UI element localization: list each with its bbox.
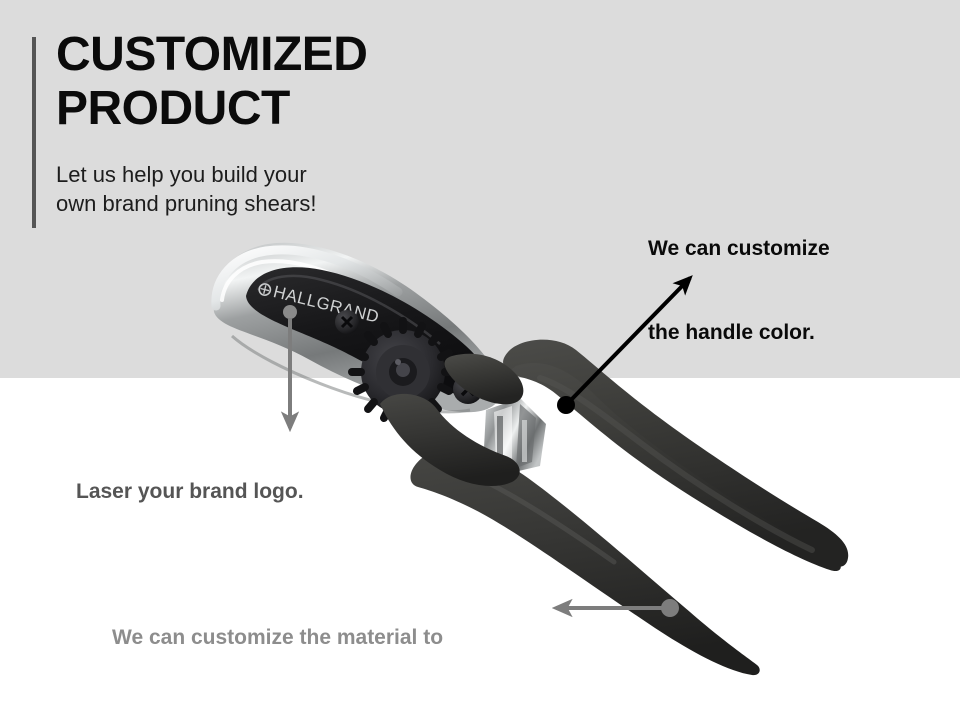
poster-canvas: HALLGRAND (0, 0, 960, 720)
page-subtitle: Let us help you build your own brand pru… (56, 160, 456, 218)
callout-laser-logo: Laser your brand logo. (76, 448, 304, 536)
subtitle-line-1: Let us help you build your (56, 160, 456, 189)
headline-line-1: CUSTOMIZED (56, 28, 576, 82)
callout-handle-color: We can customize the handle color. (648, 186, 830, 396)
callout-material-line-1: We can customize the material to (112, 613, 443, 662)
callout-material: We can customize the material to meet en… (112, 564, 443, 720)
page-title: CUSTOMIZED PRODUCT (56, 28, 576, 136)
subtitle-line-2: own brand pruning shears! (56, 189, 456, 218)
callout-laser-logo-line-1: Laser your brand logo. (76, 477, 304, 506)
callout-handle-color-line-1: We can customize (648, 228, 830, 270)
callout-handle-color-line-2: the handle color. (648, 312, 830, 354)
accent-bar (32, 37, 36, 228)
headline-line-2: PRODUCT (56, 82, 576, 136)
callout-material-line-2: meet environmental regulation. (112, 712, 443, 720)
